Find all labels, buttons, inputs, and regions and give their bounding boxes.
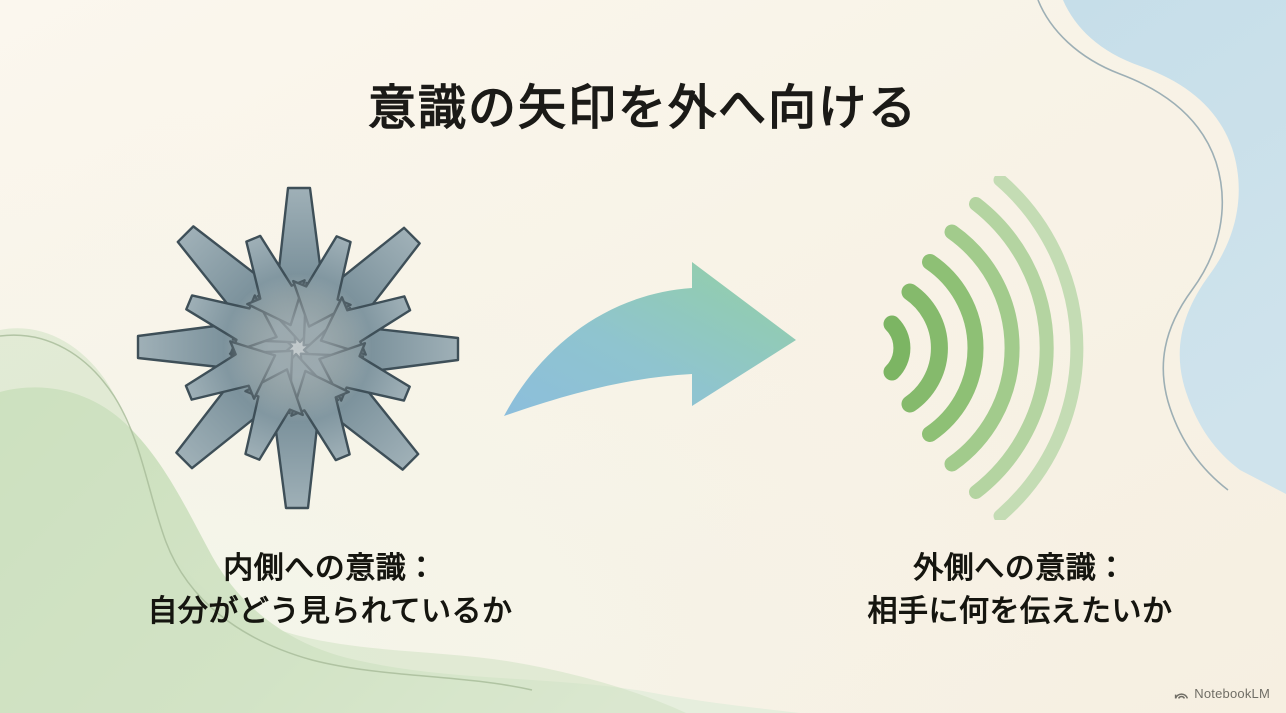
caption-right-line2: 相手に何を伝えたいか	[770, 591, 1270, 634]
caption-left-line2: 自分がどう見られているか	[40, 591, 620, 634]
wave-arc-1	[892, 324, 902, 372]
notebooklm-watermark: NotebookLM	[1174, 686, 1270, 701]
caption-left-line1: 内側への意識：	[40, 548, 620, 591]
caption-right-line1: 外側への意識：	[770, 548, 1270, 591]
caption-right: 外側への意識： 相手に何を伝えたいか	[770, 548, 1270, 633]
page-title: 意識の矢印を外へ向ける	[0, 80, 1286, 138]
wave-arc-2	[910, 292, 939, 404]
burst-center-glow-overlay	[224, 274, 372, 422]
outward-radiating-waves-graphic	[868, 176, 1168, 520]
transition-arrow-shape	[504, 262, 796, 416]
notebooklm-arc-icon	[1174, 687, 1189, 700]
slide-canvas: 意識の矢印を外へ向ける	[0, 0, 1286, 713]
wave-arc-group	[892, 180, 1077, 516]
curved-transition-arrow-graphic	[496, 256, 826, 436]
notebooklm-watermark-label: NotebookLM	[1194, 686, 1270, 701]
inward-converging-arrows-graphic	[118, 176, 478, 520]
caption-left: 内側への意識： 自分がどう見られているか	[40, 548, 620, 633]
